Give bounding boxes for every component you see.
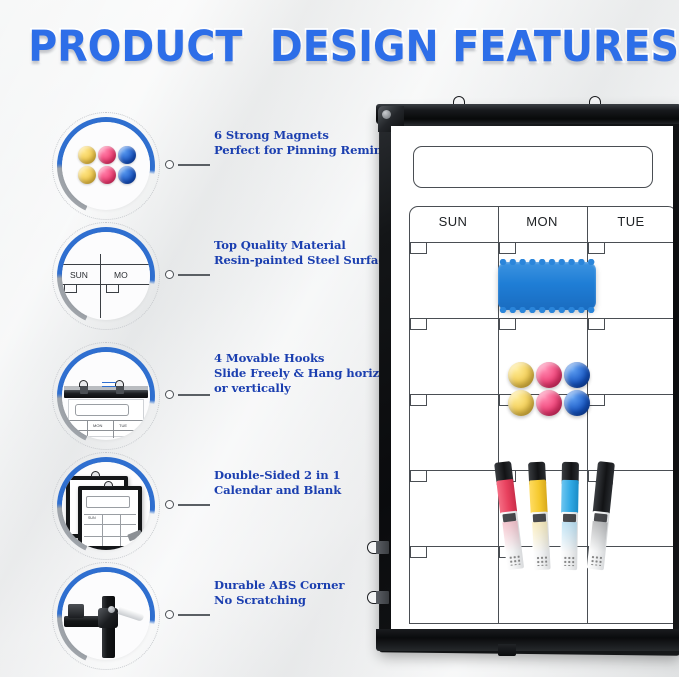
day-header-mon: MON (504, 214, 580, 229)
left-hook-1 (367, 540, 389, 555)
left-hook-2 (367, 590, 389, 605)
board-header-box (86, 496, 130, 508)
dual-boards-closeup: SUN (62, 462, 150, 550)
feature-item-hooks: MON TUE 4 Movable Hooks Slide Freely & H… (42, 334, 402, 452)
infographic-page: PRODUCT DESIGN FEATURES (0, 0, 679, 677)
connector-dot (165, 160, 174, 169)
board-face: MON TUE (68, 399, 144, 437)
hook-left (78, 380, 89, 393)
connector-line (178, 164, 210, 165)
hooks-closeup: MON TUE (62, 352, 150, 440)
calendar-row-divider (409, 318, 673, 319)
feature-item-material: SUN MO Top Quality Material Resin-painte… (42, 214, 402, 332)
frame-clip (68, 604, 84, 618)
dry-erase-markers[interactable] (494, 462, 654, 582)
protective-pad (117, 606, 144, 622)
feature-item-double-sided: SUN Double-Sided 2 in 1 Calendar and Bla… (42, 444, 402, 562)
hook-body (376, 591, 389, 604)
marker-label-band (532, 522, 549, 553)
magnet-pink[interactable] (536, 390, 562, 416)
calendar-date-box (410, 242, 427, 254)
calendar-date-box (410, 470, 427, 482)
callout-connector (165, 496, 213, 514)
calendar-date-box (64, 284, 77, 293)
hook-body (376, 541, 389, 554)
whiteboard-bottom-rail (376, 629, 679, 651)
calendar-date-box (499, 242, 516, 254)
marker-logo (563, 514, 576, 522)
calendar-date-box (410, 394, 427, 406)
magnet-grid (78, 146, 136, 186)
hook-cap (104, 481, 113, 487)
marker-label-band (590, 521, 608, 552)
calendar-closeup: SUN MO (62, 254, 150, 318)
day-header-tue: TUE (119, 423, 127, 428)
connector-line (178, 504, 210, 505)
marker-black[interactable] (587, 461, 615, 570)
callout-connector (165, 386, 213, 404)
marker-red[interactable] (494, 461, 524, 570)
feature-item-magnets: 6 Strong Magnets Perfect for Pinning Rem… (42, 104, 402, 222)
connector-dot (165, 610, 174, 619)
marker-barcode (508, 555, 520, 566)
callout-connector (165, 266, 213, 284)
marker-label-band (561, 522, 577, 552)
board-rail (64, 390, 148, 398)
calendar-line (62, 264, 150, 265)
marker-blue[interactable] (560, 462, 579, 570)
marker-yellow[interactable] (528, 462, 551, 571)
hook-body (80, 386, 88, 394)
magnet-blue (118, 146, 136, 164)
board-header-box (75, 404, 129, 416)
magnet-yellow[interactable] (508, 362, 534, 388)
magnet-blue[interactable] (564, 390, 590, 416)
connector-line (178, 394, 210, 395)
whiteboard-top-rail (376, 104, 679, 124)
whiteboard-eraser[interactable] (498, 262, 596, 310)
screw-icon (108, 606, 115, 613)
day-header-tue: TUE (593, 214, 669, 229)
abs-corner-closeup (62, 572, 150, 660)
marker-barcode (536, 556, 548, 567)
connector-line (178, 274, 210, 275)
marker-logo (533, 514, 546, 523)
connector-dot (165, 500, 174, 509)
movable-hooks-icon: MON TUE (62, 352, 150, 440)
calendar-date-box (106, 284, 119, 293)
day-header-sun: SUN (88, 516, 96, 520)
callout-connector (165, 156, 213, 174)
day-header-mon: MON (93, 423, 102, 428)
magnet-yellow (78, 146, 96, 164)
board-magnets[interactable] (508, 362, 594, 418)
calendar-date-box (410, 318, 427, 330)
hook-body (116, 386, 124, 394)
marker-barrel (496, 479, 517, 515)
calendar-date-box (588, 242, 605, 254)
calendar-line (102, 514, 103, 546)
calendar-date-box (410, 546, 427, 558)
callout-connector (165, 606, 213, 624)
calendar-line (69, 430, 145, 431)
connector-dot (165, 270, 174, 279)
calendar-line (87, 420, 88, 438)
connector-line (178, 614, 210, 615)
magnet-yellow[interactable] (508, 390, 534, 416)
calendar-line (84, 514, 136, 515)
whiteboard-bottom-tab (498, 644, 516, 656)
magnet-blue (118, 166, 136, 184)
marker-barcode (563, 556, 574, 566)
magnet-pink (98, 166, 116, 184)
calendar-line (113, 420, 114, 438)
magnets-icon (62, 122, 150, 210)
marker-barrel (561, 480, 579, 514)
abs-corner-icon (62, 572, 150, 660)
double-sided-boards-icon: SUN (62, 462, 150, 550)
marker-barcode (590, 555, 602, 566)
hook-cap (91, 471, 100, 477)
calendar-date-box (588, 318, 605, 330)
calendar-line (100, 254, 101, 318)
feature-item-abs-corner: Durable ABS Corner No Scratching (42, 554, 402, 672)
magnet-pink (98, 146, 116, 164)
calendar-surface-icon: SUN MO (62, 232, 150, 320)
board-header-box[interactable] (413, 146, 653, 188)
calendar-row-divider (409, 242, 673, 243)
magnet-pink[interactable] (536, 362, 562, 388)
calendar-line (84, 524, 136, 525)
calendar-date-box (499, 318, 516, 330)
day-header-sun: SUN (70, 270, 88, 280)
connector-dot (165, 390, 174, 399)
day-header-mon: MO (114, 270, 128, 280)
calendar-line (120, 514, 121, 546)
magnet-yellow (78, 166, 96, 184)
marker-barrel (529, 480, 548, 515)
marker-logo (594, 513, 608, 522)
marker-barrel (593, 479, 613, 515)
day-header-sun: SUN (415, 214, 491, 229)
magnet-blue[interactable] (564, 362, 590, 388)
marker-logo (502, 513, 516, 523)
slide-arrow-icon (102, 382, 116, 389)
calendar-line (69, 420, 145, 421)
feature-list: 6 Strong Magnets Perfect for Pinning Rem… (0, 0, 400, 677)
